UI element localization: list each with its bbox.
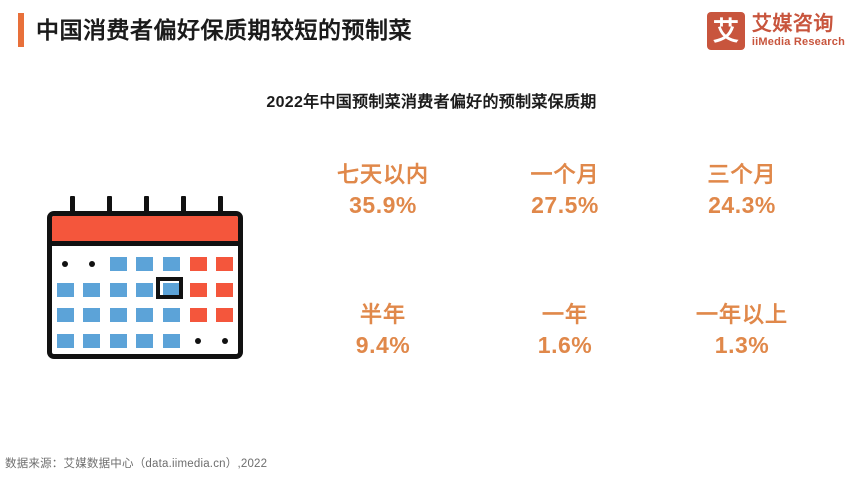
calendar-day-cell: [110, 334, 127, 348]
data-item-5: 一年以上 1.3%: [696, 300, 788, 360]
calendar-body: [47, 211, 243, 359]
page-title: 中国消费者偏好保质期较短的预制菜: [36, 14, 412, 46]
brand-logo: 艾 艾媒咨询 iiMedia Research: [707, 12, 845, 50]
calendar-day-cell: [110, 283, 127, 297]
calendar-illustration: [42, 196, 254, 364]
data-label: 一年: [538, 300, 592, 330]
title-accent-bar: [18, 13, 24, 47]
data-label: 半年: [356, 300, 410, 330]
logo-name-en: iiMedia Research: [752, 35, 845, 49]
data-item-1: 一个月 27.5%: [530, 160, 599, 220]
data-value: 1.3%: [696, 330, 788, 360]
calendar-day-cell: [83, 283, 100, 297]
logo-text: 艾媒咨询 iiMedia Research: [752, 13, 845, 49]
data-value: 24.3%: [707, 190, 776, 220]
calendar-day-cell: [163, 308, 180, 322]
calendar-weekend-cell: [190, 308, 207, 322]
data-value: 1.6%: [538, 330, 592, 360]
logo-name-cn: 艾媒咨询: [752, 13, 845, 35]
calendar-weekend-cell: [190, 283, 207, 297]
calendar-day-cell: [57, 334, 74, 348]
data-label: 一年以上: [696, 300, 788, 330]
calendar-day-cell: [136, 308, 153, 322]
calendar-day-cell: [83, 334, 100, 348]
calendar-day-cell: [136, 257, 153, 271]
calendar-day-cell: [83, 308, 100, 322]
data-label: 七天以内: [337, 160, 429, 190]
chart-subtitle: 2022年中国预制菜消费者偏好的预制菜保质期: [0, 88, 863, 112]
data-item-0: 七天以内 35.9%: [337, 160, 429, 220]
page-header: 中国消费者偏好保质期较短的预制菜 艾 艾媒咨询 iiMedia Research: [0, 0, 863, 68]
calendar-selected-day-cell: [163, 283, 180, 297]
data-item-3: 半年 9.4%: [356, 300, 410, 360]
calendar-day-cell: [163, 257, 180, 271]
data-label: 一个月: [530, 160, 599, 190]
calendar-day-dot: [222, 338, 228, 344]
calendar-header-band: [52, 216, 238, 246]
calendar-weekend-cell: [190, 257, 207, 271]
calendar-weekend-cell: [216, 257, 233, 271]
data-value: 35.9%: [337, 190, 429, 220]
calendar-day-cell: [57, 283, 74, 297]
data-item-4: 一年 1.6%: [538, 300, 592, 360]
calendar-day-cell: [57, 308, 74, 322]
calendar-day-cell: [163, 334, 180, 348]
calendar-weekend-cell: [216, 283, 233, 297]
data-item-2: 三个月 24.3%: [707, 160, 776, 220]
data-source-note: 数据来源：艾媒数据中心（data.iimedia.cn）,2022: [5, 455, 267, 471]
calendar-day-grid: [52, 251, 238, 354]
data-label: 三个月: [707, 160, 776, 190]
data-value: 9.4%: [356, 330, 410, 360]
logo-mark-icon: 艾: [707, 12, 745, 50]
calendar-day-cell: [136, 334, 153, 348]
calendar-day-cell: [110, 257, 127, 271]
data-value: 27.5%: [530, 190, 599, 220]
calendar-day-dot: [195, 338, 201, 344]
calendar-day-cell: [110, 308, 127, 322]
calendar-day-dot: [89, 261, 95, 267]
calendar-day-cell: [136, 283, 153, 297]
calendar-day-dot: [62, 261, 68, 267]
calendar-weekend-cell: [216, 308, 233, 322]
